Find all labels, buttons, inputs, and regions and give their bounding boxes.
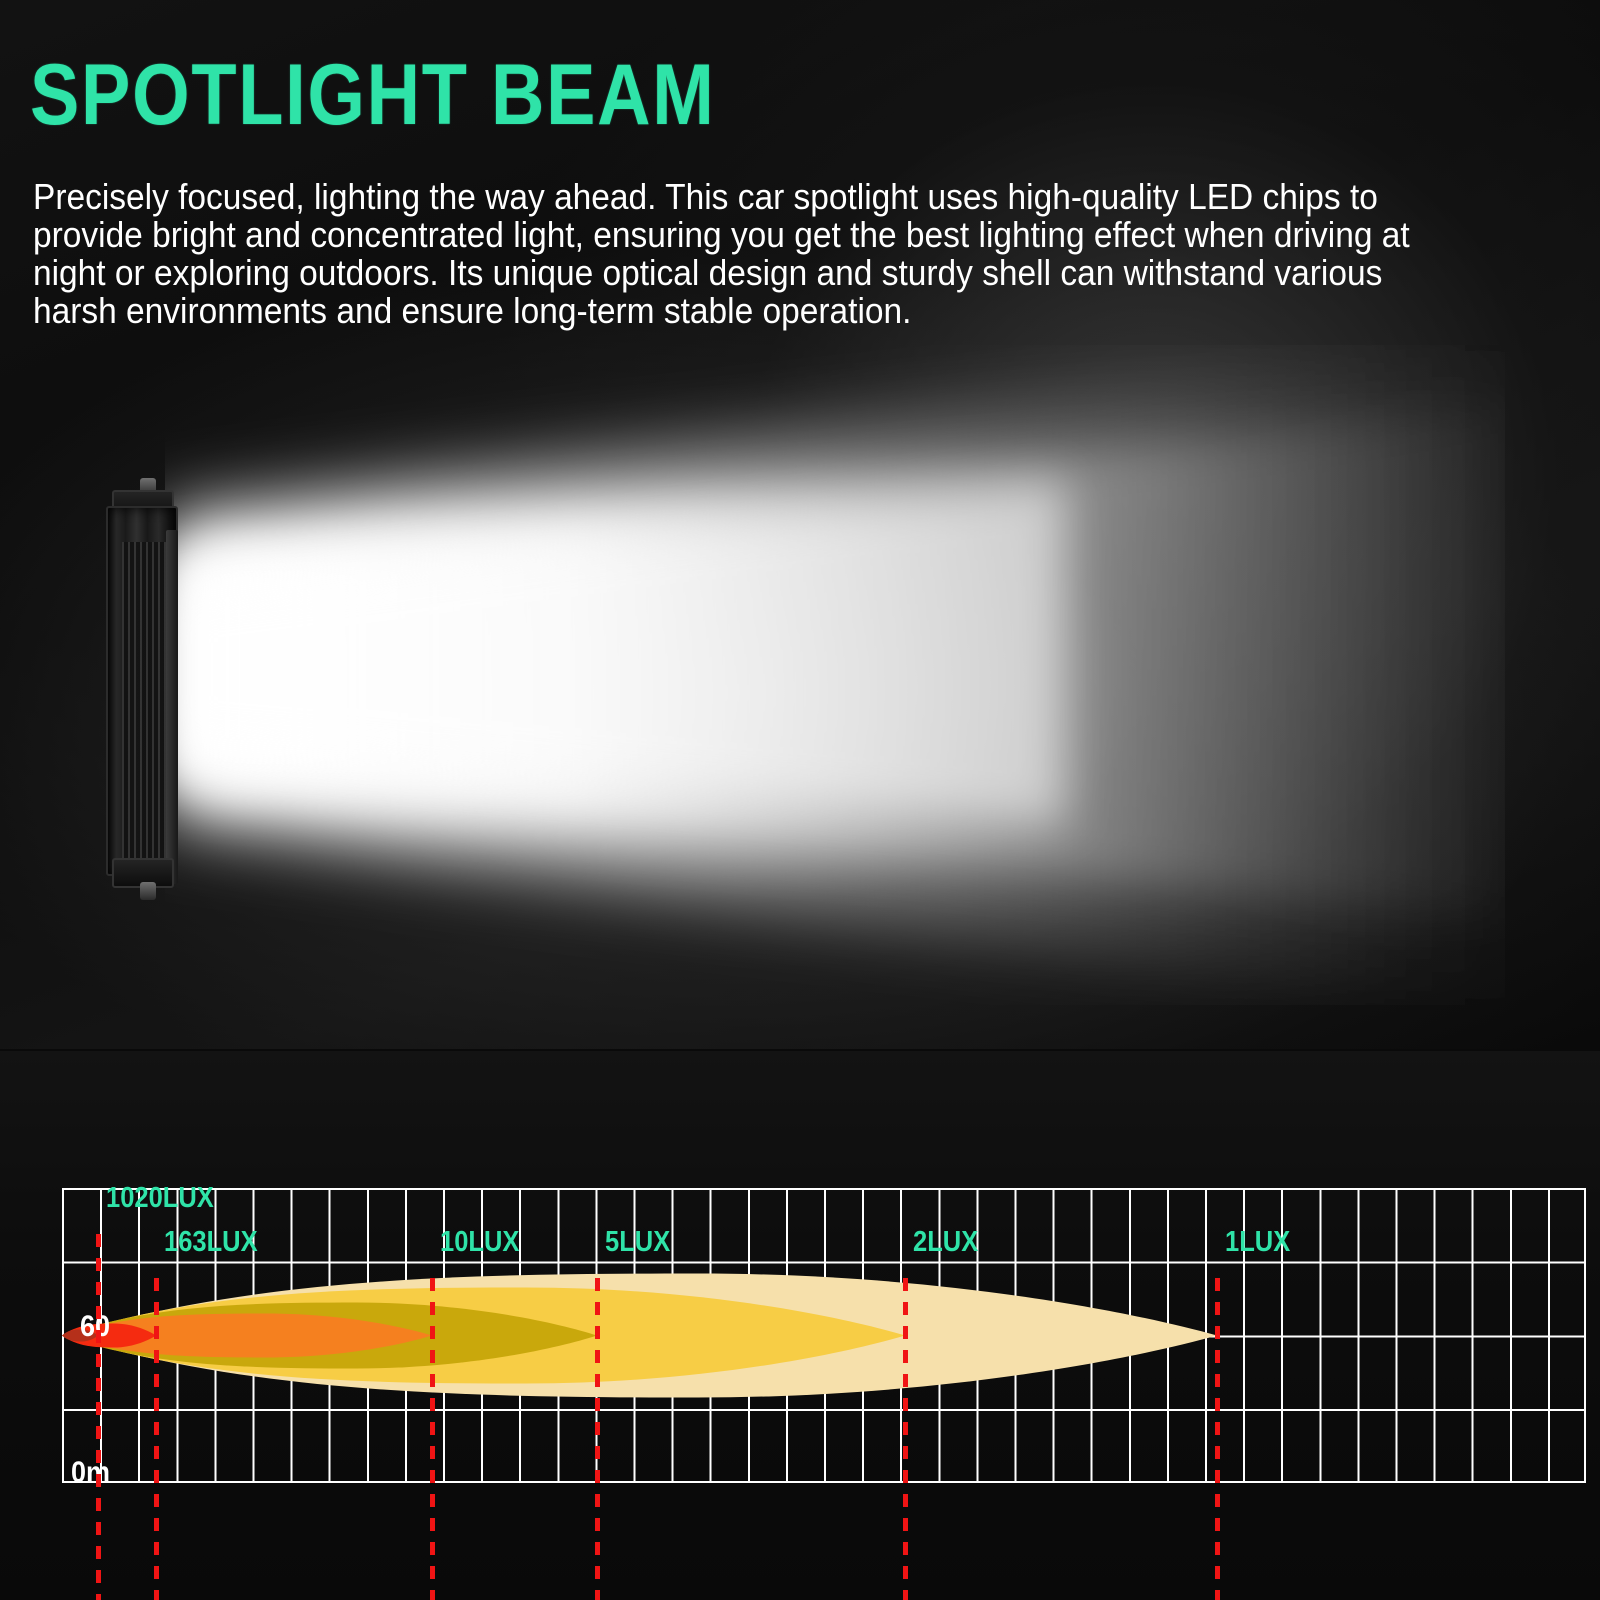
led-light-bar	[100, 490, 186, 888]
page-title: SPOTLIGHT BEAM	[30, 52, 716, 138]
lux-value-label-1020LUX: 1020LUX	[106, 1182, 214, 1215]
beam-pattern-chart-panel: 60 0m -60 1020LUX10m163LUX25m10LUX101m5L…	[0, 1050, 1600, 1600]
beam-spread-shapes	[62, 1188, 1586, 1483]
lux-value-label-2LUX: 2LUX	[913, 1226, 978, 1259]
y-axis-label-top: 60	[58, 1310, 110, 1344]
lux-marker-line-2LUX	[903, 1278, 908, 1600]
spotlight-beam-infographic: SPOTLIGHT BEAM Precisely focused, lighti…	[0, 0, 1600, 1600]
page-description: Precisely focused, lighting the way ahea…	[33, 178, 1465, 330]
lux-marker-line-10LUX	[430, 1278, 435, 1600]
lux-marker-line-5LUX	[595, 1278, 600, 1600]
light-bar-housing	[106, 506, 178, 876]
chart-plot-area: 60 0m -60 1020LUX10m163LUX25m10LUX101m5L…	[62, 1188, 1586, 1483]
lux-value-label-1LUX: 1LUX	[1225, 1226, 1290, 1259]
lens-strip	[166, 530, 178, 884]
lux-marker-line-1020LUX	[96, 1234, 101, 1600]
lux-marker-line-1LUX	[1215, 1278, 1220, 1600]
lux-value-label-5LUX: 5LUX	[605, 1226, 670, 1259]
light-beam-cone	[165, 345, 1505, 1005]
panel-divider	[0, 1049, 1600, 1051]
product-photo-panel: SPOTLIGHT BEAM Precisely focused, lighti…	[0, 0, 1600, 1050]
mount-knob-bottom	[140, 882, 156, 900]
lux-value-label-10LUX: 10LUX	[440, 1226, 519, 1259]
lux-marker-line-163LUX	[154, 1278, 159, 1600]
lux-value-label-163LUX: 163LUX	[164, 1226, 258, 1259]
